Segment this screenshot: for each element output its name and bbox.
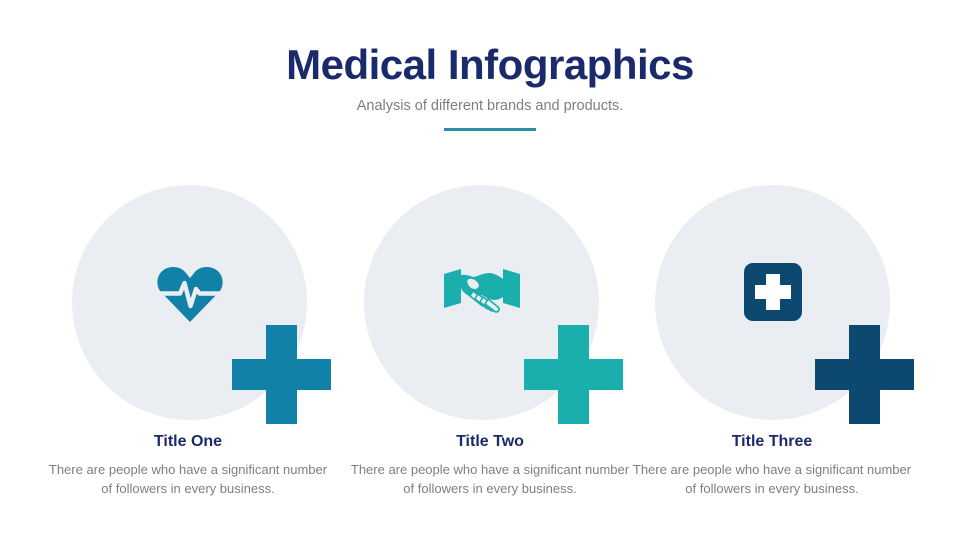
panel-two-icon-slot [364, 257, 599, 327]
caption-three: Title Three There are people who have a … [622, 432, 922, 498]
panel-two[interactable] [340, 185, 634, 430]
caption-two-body: There are people who have a significant … [340, 461, 640, 498]
page-title: Medical Infographics [0, 44, 980, 86]
panel-one[interactable] [48, 185, 342, 430]
panel-two-plus-badge [524, 325, 623, 424]
caption-one-title: Title One [38, 432, 338, 451]
plus-icon [524, 325, 623, 424]
header: Medical Infographics Analysis of differe… [0, 44, 980, 131]
page-subtitle: Analysis of different brands and product… [0, 99, 980, 115]
caption-two: Title Two There are people who have a si… [340, 432, 640, 498]
panel-one-icon-slot [72, 257, 307, 327]
caption-three-title: Title Three [622, 432, 922, 451]
panel-three-icon-slot [655, 257, 890, 327]
caption-one: Title One There are people who have a si… [38, 432, 338, 498]
panel-one-plus-badge [232, 325, 331, 424]
captions-row: Title One There are people who have a si… [0, 432, 980, 542]
infographic-slide: Medical Infographics Analysis of differe… [0, 0, 980, 551]
plus-icon [232, 325, 331, 424]
handshake-icon [443, 267, 521, 317]
panels-row [0, 185, 980, 430]
caption-one-body: There are people who have a significant … [38, 461, 338, 498]
plus-icon [815, 325, 914, 424]
accent-divider [444, 128, 536, 131]
caption-two-title: Title Two [340, 432, 640, 451]
panel-three-plus-badge [815, 325, 914, 424]
first-aid-box-icon [744, 263, 802, 321]
panel-three[interactable] [631, 185, 925, 430]
caption-three-body: There are people who have a significant … [622, 461, 922, 498]
heart-pulse-icon [157, 261, 223, 323]
